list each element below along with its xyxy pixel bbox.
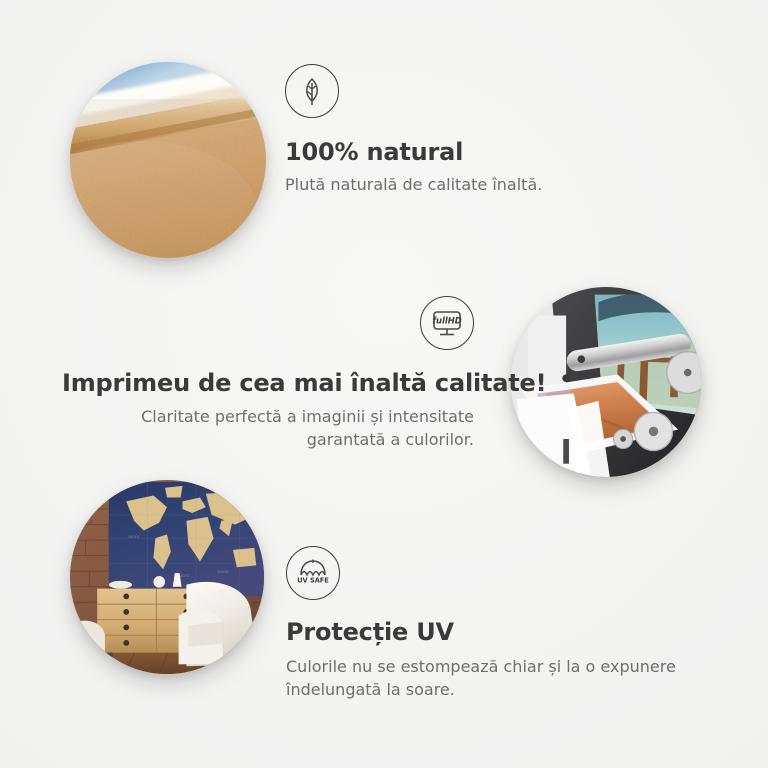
uv-safe-umbrella-icon: UV SAFE — [286, 546, 340, 600]
feature-uv-headline: Protecție UV — [286, 618, 706, 646]
fullhd-monitor-icon: fullHD — [420, 296, 474, 350]
feature-print-headline: Imprimeu de cea mai înaltă calitate! — [62, 369, 474, 397]
feature-natural-subtext: Plută naturală de calitate înaltă. — [285, 175, 705, 194]
leaf-icon — [285, 64, 339, 118]
feature-uv-subtext: Culorile nu se estompează chiar și la o … — [286, 655, 706, 701]
cork-texture-photo — [70, 62, 266, 258]
fullhd-icon-label: fullHD — [432, 316, 461, 326]
interior-room-photo: PACIFICATLANTIC INDIANAMERICA — [70, 480, 264, 674]
feature-uv: UV SAFE Protecție UV Culorile nu se esto… — [286, 546, 706, 701]
uv-safe-icon-label: UV SAFE — [297, 576, 329, 584]
feature-natural-headline: 100% natural — [285, 138, 705, 166]
feature-print: fullHD Imprimeu de cea mai înaltă calita… — [62, 296, 474, 451]
feature-natural: 100% natural Plută naturală de calitate … — [285, 64, 705, 194]
feature-print-subtext: Claritate perfectă a imaginii și intensi… — [62, 405, 474, 451]
